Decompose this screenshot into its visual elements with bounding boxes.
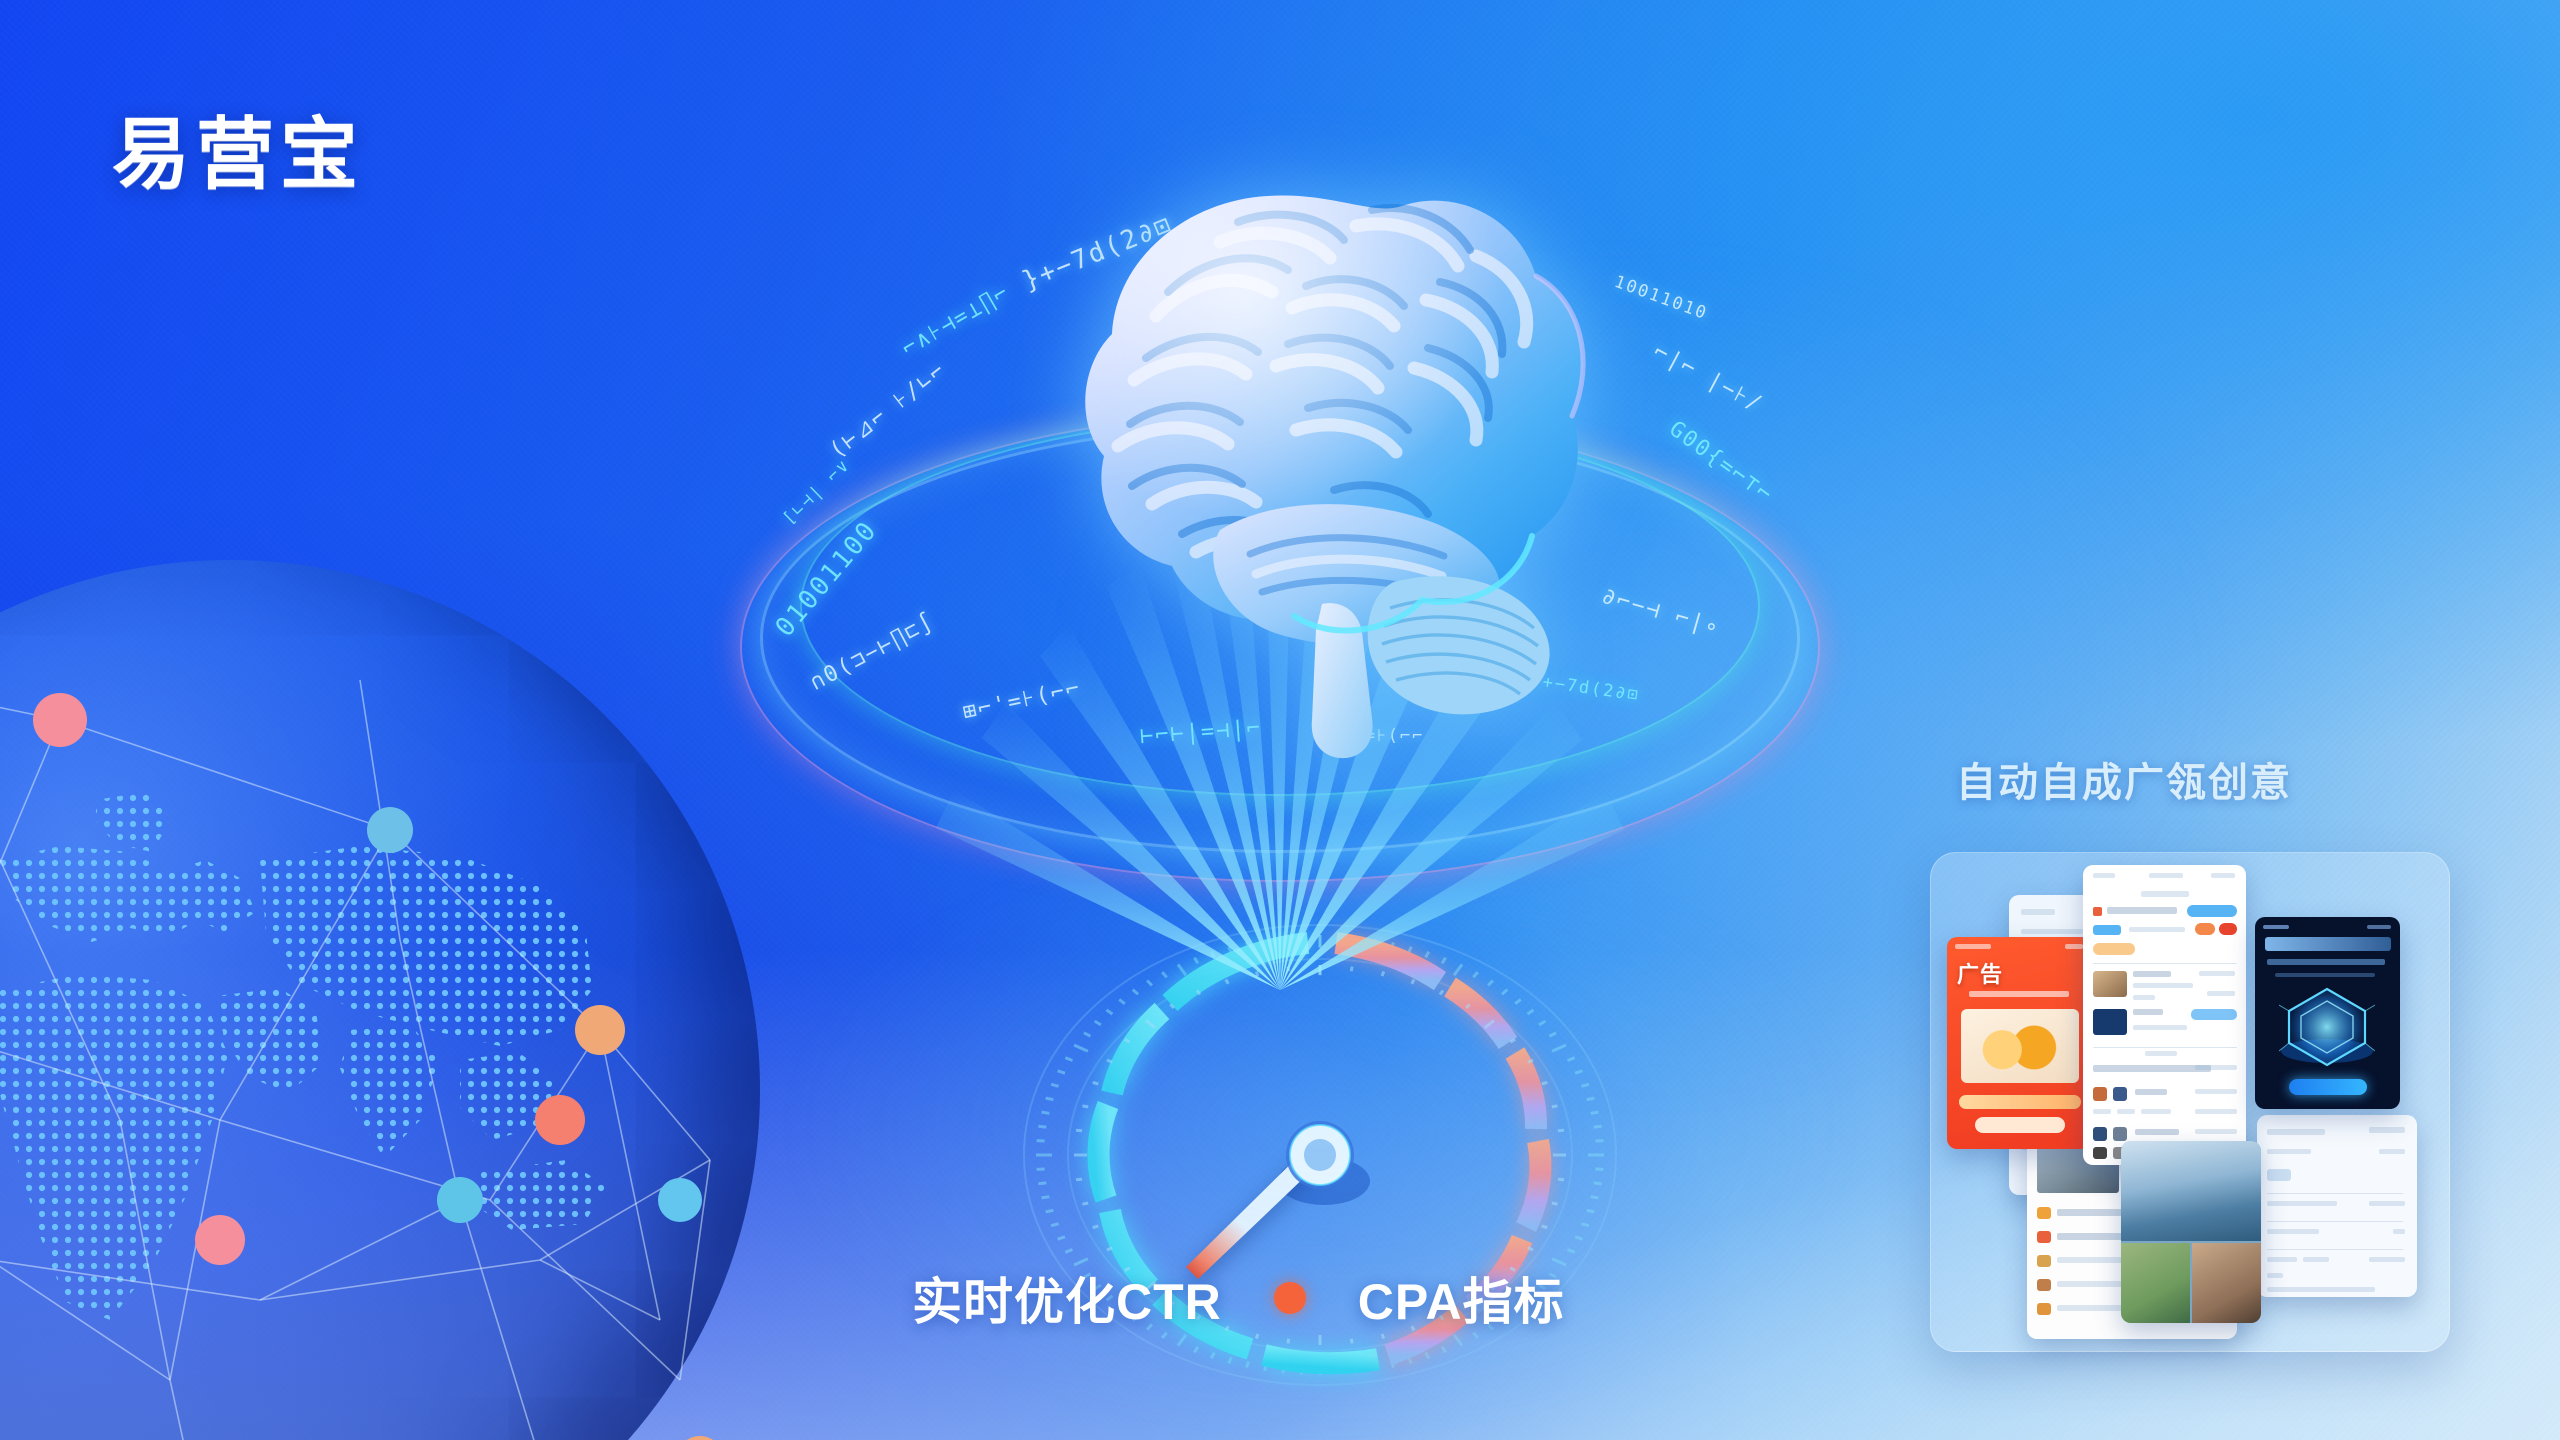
showcase-title: 自动自成广瓴创意	[1956, 750, 2292, 808]
brain-3d-icon	[920, 130, 1620, 770]
ai-brain-hero: }+−7d(2∂⊡ ⌐∧⊦⊣=⊥∏⌐ (⊢⊿⌐ ⊦∕∟⌐ [∟⊣∣ ⌐∨ 010…	[700, 130, 1860, 950]
caption-separator-dot	[1274, 1282, 1306, 1314]
ad-headline: 广告	[1957, 957, 2082, 983]
photo-tile	[2121, 1141, 2261, 1241]
caption-ctr-label: 实时优化CTR	[912, 1262, 1222, 1334]
tech-hexagon-graphic	[2279, 981, 2375, 1067]
ad-promo-strip	[1959, 1095, 2081, 1109]
performance-gauge	[730, 905, 1910, 1440]
banner-canvas: 易营宝 }+−7d(2∂⊡ ⌐∧⊦⊣=⊥∏⌐ (⊢⊿⌐ ⊦∕∟⌐ [∟⊣∣ ⌐∨…	[0, 0, 2560, 1440]
code-glyph: ⌐∣⌐ |−⊦∕	[1649, 339, 1767, 417]
mockup-list-screen[interactable]	[2083, 865, 2246, 1165]
mockup-ad-card[interactable]: 广告	[1947, 937, 2092, 1149]
showcase-card: 广告	[1930, 852, 2450, 1352]
ad-product-image	[1961, 1009, 2079, 1083]
brand-logo: 易营宝	[112, 92, 364, 204]
photo-tile	[2192, 1243, 2261, 1323]
globe-network-mesh	[0, 560, 760, 1440]
caption-cpa-label: CPA指标	[1358, 1262, 1565, 1334]
mockup-photo-card[interactable]	[2121, 1141, 2261, 1323]
ad-cta-button[interactable]	[1975, 1117, 2065, 1133]
mockup-tech-card[interactable]	[2255, 917, 2400, 1109]
code-glyph: 10011010	[1612, 272, 1711, 324]
mockup-form-screen[interactable]	[2257, 1115, 2417, 1297]
network-globe	[0, 560, 760, 1440]
tech-card-cta[interactable]	[2289, 1079, 2367, 1095]
photo-tile	[2121, 1243, 2190, 1323]
creative-showcase-panel: 自动自成广瓴创意	[1930, 740, 2490, 1380]
tech-card-title	[2265, 937, 2391, 951]
kpi-caption: 实时优化CTR CPA指标	[912, 1262, 1565, 1334]
